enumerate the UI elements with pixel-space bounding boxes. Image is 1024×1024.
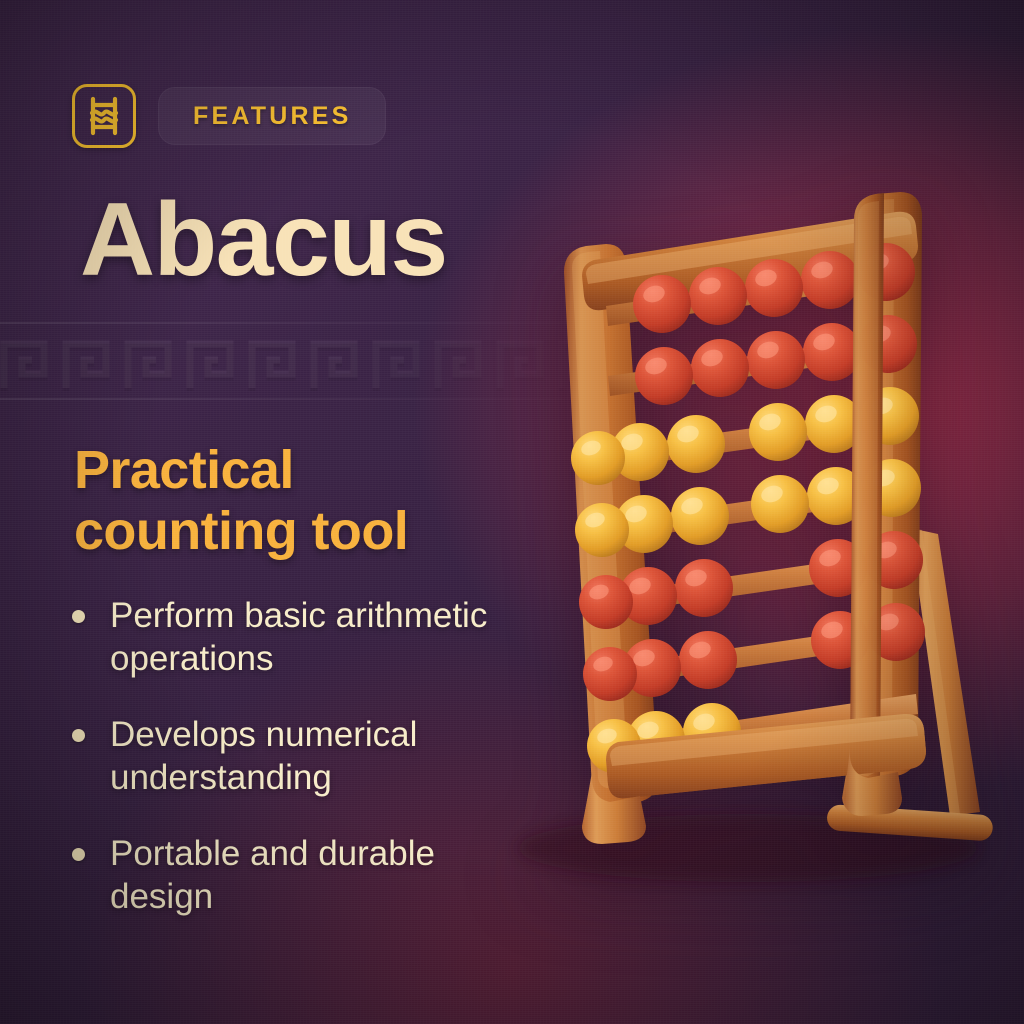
- bullet-dot-icon: [72, 848, 85, 861]
- feature-list: Perform basic arithmetic operations Deve…: [64, 594, 514, 950]
- features-badge[interactable]: FEATURES: [158, 87, 386, 145]
- list-item: Perform basic arithmetic operations: [64, 594, 514, 681]
- list-item-label: Develops numerical understanding: [110, 715, 417, 797]
- list-item-label: Perform basic arithmetic operations: [110, 596, 487, 678]
- list-item: Develops numerical understanding: [64, 713, 514, 800]
- features-badge-label: FEATURES: [193, 102, 351, 131]
- list-item: Portable and durable design: [64, 832, 514, 919]
- page-title: Abacus: [80, 186, 447, 294]
- page-subtitle: Practical counting tool: [74, 440, 408, 562]
- abacus-illustration: [498, 176, 1024, 896]
- subtitle-line-1: Practical: [74, 440, 408, 501]
- list-item-label: Portable and durable design: [110, 834, 435, 916]
- header-row: FEATURES: [72, 84, 386, 148]
- bullet-dot-icon: [72, 610, 85, 623]
- abacus-icon: [72, 84, 136, 148]
- bullet-dot-icon: [72, 729, 85, 742]
- poster-canvas: FEATURES Abacus Practical counting tool …: [0, 0, 1024, 1024]
- subtitle-line-2: counting tool: [74, 501, 408, 562]
